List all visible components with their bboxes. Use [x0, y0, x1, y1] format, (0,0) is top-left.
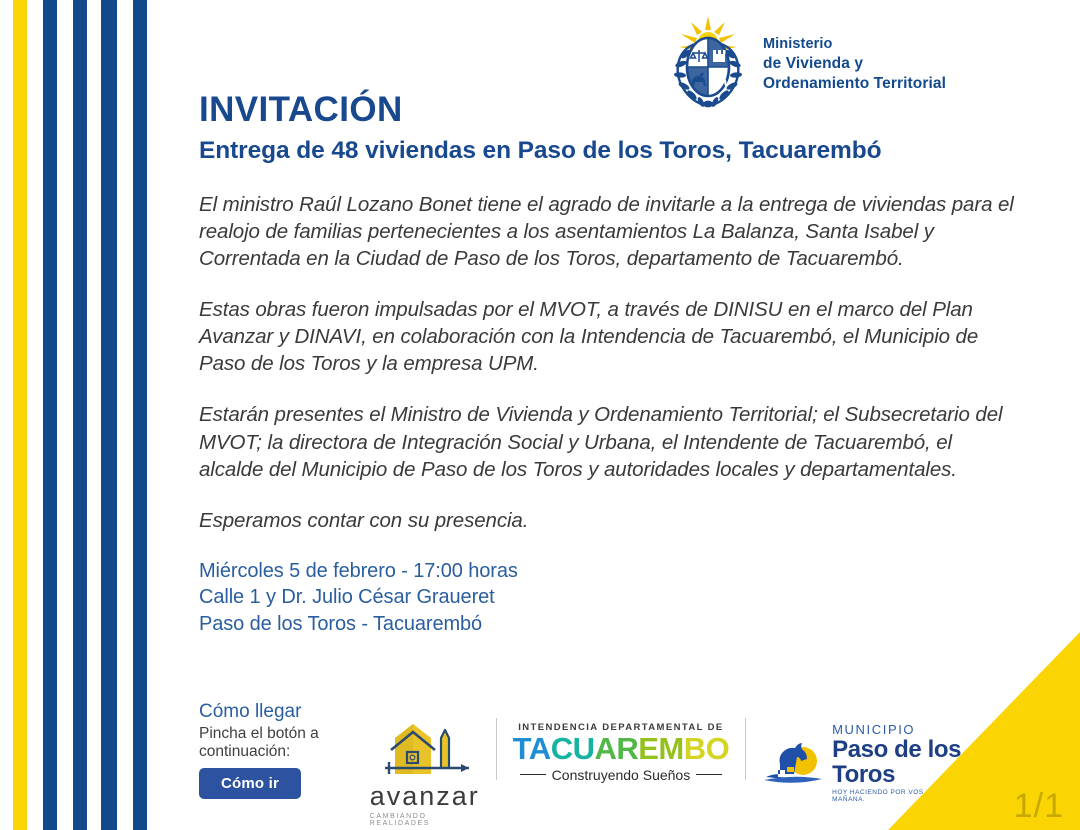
tacuarembo-rule-left [520, 774, 546, 776]
body-paragraph-4: Esperamos contar con su presencia. [199, 507, 1019, 534]
footer: Cómo llegar Pincha el botón a continuaci… [199, 702, 999, 827]
decorative-stripe-blue-3 [101, 0, 117, 830]
event-date-time: Miércoles 5 de febrero - 17:00 horas [199, 558, 1019, 585]
footer-divider-2 [745, 718, 746, 780]
ministry-wordmark-line-2: de Vivienda y [763, 54, 946, 74]
tacuarembo-logo: INTENDENCIA DEPARTAMENTAL DE TACUAREMBO … [513, 722, 730, 783]
ministry-wordmark-line-1: Ministerio [763, 35, 946, 54]
ministry-wordmark: Ministerio de Vivienda y Ordenamiento Te… [763, 35, 946, 93]
directions-hint: Pincha el botón a continuación: [199, 725, 358, 761]
invitation-page: Ministerio de Vivienda y Ordenamiento Te… [0, 0, 1080, 830]
page-subtitle: Entrega de 48 viviendas en Paso de los T… [199, 137, 1019, 165]
house-with-arrow-icon [373, 718, 477, 785]
tacuarembo-part-1: TA [513, 731, 551, 766]
directions-heading: Cómo llegar [199, 702, 358, 723]
body-paragraph-3: Estarán presentes el Ministro de Viviend… [199, 401, 1019, 482]
page-title: INVITACIÓN [199, 92, 1019, 127]
event-details: Miércoles 5 de febrero - 17:00 horas Cal… [199, 558, 1019, 638]
tacuarembo-sub-line: Construyendo Sueños [552, 767, 691, 783]
bull-with-sun-icon [762, 733, 824, 792]
avanzar-wordmark: avanzar [370, 783, 480, 810]
directions-block: Cómo llegar Pincha el botón a continuaci… [199, 702, 358, 799]
decorative-stripe-blue-1 [43, 0, 57, 830]
how-to-go-button[interactable]: Cómo ir [199, 768, 301, 799]
body-paragraph-1: El ministro Raúl Lozano Bonet tiene el a… [199, 191, 1019, 272]
tacuarembo-part-4: EM [638, 731, 684, 766]
event-address: Calle 1 y Dr. Julio César Graueret [199, 584, 1019, 611]
tacuarembo-rule-right [696, 774, 722, 776]
invitation-content: INVITACIÓN Entrega de 48 viviendas en Pa… [199, 92, 1019, 637]
avanzar-tagline: CAMBIANDO REALIDADES [370, 813, 480, 827]
page-indicator: 1/1 [1014, 787, 1064, 826]
body-paragraph-2: Estas obras fueron impulsadas por el MVO… [199, 296, 1019, 377]
avanzar-logo: avanzar CAMBIANDO REALIDADES [370, 718, 480, 827]
decorative-stripe-blue-2 [73, 0, 87, 830]
tacuarembo-part-2: CU [551, 731, 595, 766]
ministry-wordmark-line-3: Ordenamiento Territorial [763, 74, 946, 94]
decorative-stripe-yellow [13, 0, 27, 830]
decorative-stripe-blue-4 [133, 0, 147, 830]
tacuarembo-sub-line-wrap: Construyendo Sueños [520, 767, 723, 783]
tacuarembo-wordmark: TACUAREMBO [513, 733, 730, 766]
tacuarembo-part-3: AR [594, 731, 638, 766]
tacuarembo-part-5: BO [684, 731, 730, 766]
footer-divider-1 [496, 718, 497, 780]
